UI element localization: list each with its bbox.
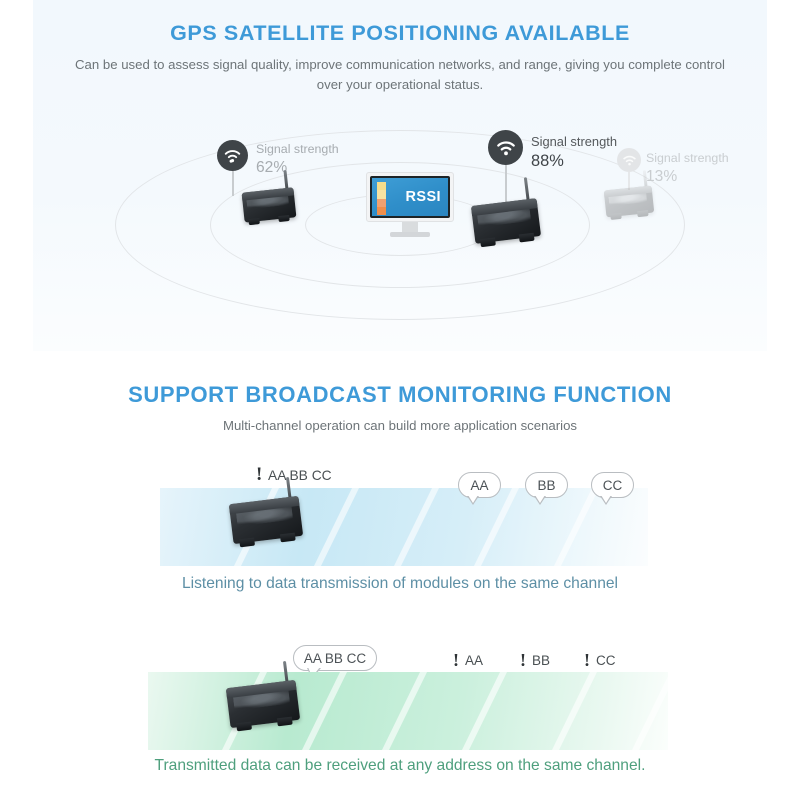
module-foot (610, 213, 621, 219)
broadcast-address-bubble-text: AA BB CC (304, 651, 366, 666)
monitor-neck (402, 222, 418, 232)
rf-module-icon-right (604, 186, 655, 218)
wifi-icon (488, 130, 523, 165)
signal-label-left-text: Signal strength (256, 142, 339, 158)
transmit-address-tag: AA BB CC (268, 468, 332, 483)
broadcast-avatar-aa (424, 688, 468, 734)
rf-module-icon-transmitter-broadcast (226, 680, 300, 728)
speech-bubble-bb: BB (525, 472, 568, 498)
rf-module-icon-left (242, 187, 297, 222)
wifi-icon (217, 140, 248, 171)
wifi-stem-middle (505, 165, 507, 203)
rf-module-icon-middle (471, 198, 541, 244)
gps-section-title: GPS SATELLITE POSITIONING AVAILABLE (33, 21, 767, 46)
wifi-stem-left (232, 171, 234, 196)
broadcast-section-subtitle: Multi-channel operation can build more a… (0, 418, 800, 433)
wifi-icon-glyph (223, 148, 242, 163)
speech-bubble-cc: CC (591, 472, 634, 498)
bubble-tail-fill (535, 495, 545, 503)
speech-bubble-aa: AA (458, 472, 501, 498)
signal-label-middle-text: Signal strength (531, 134, 617, 151)
wifi-icon-glyph (495, 139, 517, 156)
gps-section-subtitle: Can be used to assess signal quality, im… (73, 55, 727, 95)
speech-bubble-aa-text: AA (470, 478, 488, 493)
alert-bang-icon-aa: ! (453, 650, 459, 671)
receiver-address-tag-aa: AA (465, 653, 483, 668)
signal-label-right-value: 13% (646, 167, 729, 187)
receiver-avatar-bb (489, 504, 533, 550)
signal-label-middle-value: 88% (531, 151, 617, 172)
alert-bang-icon-cc: ! (584, 650, 590, 671)
wifi-icon-glyph (622, 154, 637, 166)
receiver-avatar-aa (424, 504, 468, 550)
monitor-icon: RSSI (366, 172, 454, 240)
monitoring-caption: Listening to data transmission of module… (0, 575, 800, 593)
signal-label-middle: Signal strength 88% (531, 134, 617, 172)
receiver-address-tag-cc: CC (596, 653, 616, 668)
signal-label-left-value: 62% (256, 158, 339, 178)
receiver-address-tag-bb: BB (532, 653, 550, 668)
gps-section: GPS SATELLITE POSITIONING AVAILABLE Can … (33, 0, 767, 351)
module-foot (278, 215, 290, 222)
rssi-label: RSSI (406, 189, 441, 205)
receiver-avatar-cc (551, 504, 595, 550)
alert-bang-icon-monitoring: ! (256, 464, 262, 486)
bubble-tail-fill (601, 495, 611, 503)
broadcast-avatar-bb (489, 688, 533, 734)
monitor-screen: RSSI (370, 176, 450, 218)
alert-bang-icon-bb: ! (520, 650, 526, 671)
signal-bars-icon (377, 182, 386, 215)
rf-module-icon-transmitter-monitoring (229, 496, 303, 544)
broadcast-section-title: SUPPORT BROADCAST MONITORING FUNCTION (0, 382, 800, 408)
bubble-tail-fill (468, 495, 478, 503)
broadcast-avatar-cc (551, 688, 595, 734)
monitor-base (390, 232, 430, 237)
signal-label-left: Signal strength 62% (256, 142, 339, 178)
signal-label-right: Signal strength 13% (646, 151, 729, 187)
broadcast-caption: Transmitted data can be received at any … (0, 757, 800, 775)
wifi-icon (617, 148, 641, 172)
speech-bubble-cc-text: CC (603, 478, 623, 493)
monitor-frame: RSSI (366, 172, 454, 222)
speech-bubble-bb-text: BB (537, 478, 555, 493)
module-foot (248, 218, 260, 225)
page-root: GPS SATELLITE POSITIONING AVAILABLE Can … (0, 0, 800, 800)
signal-label-right-text: Signal strength (646, 151, 729, 167)
broadcast-address-bubble: AA BB CC (293, 645, 377, 671)
module-foot (637, 210, 648, 216)
